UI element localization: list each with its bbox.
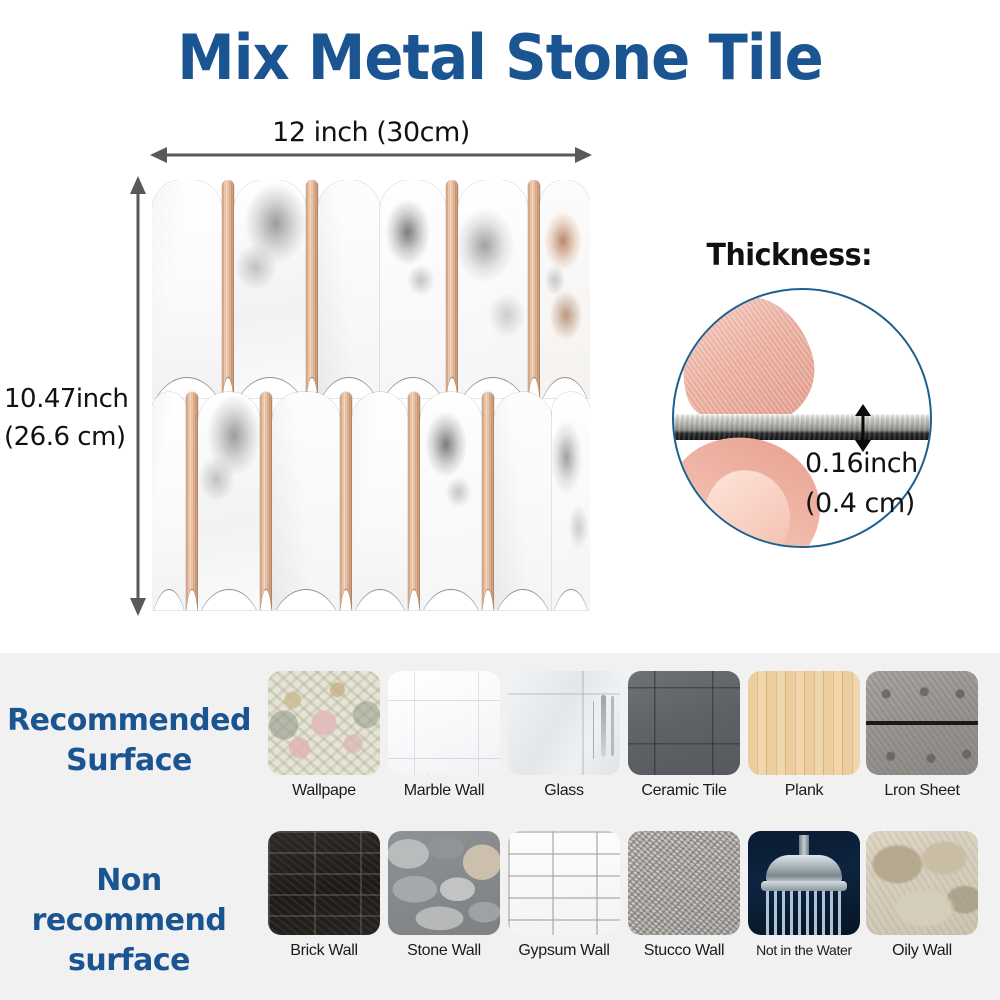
tile-metal-strip: [482, 392, 494, 610]
non-recommended-surface-label: Non recommend surface: [0, 861, 258, 981]
surface-caption: Gypsum Wall: [508, 942, 620, 960]
non-recommended-label-line2: surface: [0, 941, 258, 981]
surface-caption: Stone Wall: [388, 942, 500, 960]
recommended-label-line2: Surface: [0, 741, 258, 781]
surface-item-plank: Plank: [748, 671, 860, 800]
stone-wall-swatch: [388, 831, 500, 935]
tile-picket: [272, 392, 340, 610]
surface-item-stucco-wall: Stucco Wall: [628, 831, 740, 960]
thickness-value-label: 0.16inch (0.4 cm): [805, 444, 955, 524]
height-label-line1: 10.47inch: [4, 380, 134, 418]
surface-caption: Plank: [748, 782, 860, 800]
surface-caption: Glass: [508, 782, 620, 800]
tile-metal-strip: [446, 180, 458, 398]
surface-caption: Not in the Water: [748, 942, 860, 958]
tile-picket: [234, 180, 306, 398]
surface-item-oily-wall: Oily Wall: [866, 831, 978, 960]
marble-swatch: [388, 671, 500, 775]
glass-swatch: [508, 671, 620, 775]
surface-item-not-in-water: Not in the Water: [748, 831, 860, 958]
tile-product-image: [152, 180, 590, 612]
width-dimension-arrow: [150, 145, 592, 165]
tile-picket: [152, 392, 186, 610]
surface-item-wallpaper: Wallpape: [268, 671, 380, 800]
page-title: Mix Metal Stone Tile: [35, 22, 965, 94]
top-section: Mix Metal Stone Tile 12 inch (30cm) 10.4…: [0, 0, 1000, 653]
oily-wall-swatch: [866, 831, 978, 935]
surface-caption: Oily Wall: [866, 942, 978, 960]
tile-picket: [380, 180, 446, 398]
tile-picket: [152, 180, 222, 398]
tile-picket: [458, 180, 528, 398]
tile-metal-strip: [306, 180, 318, 398]
thickness-heading: Thickness:: [707, 238, 954, 273]
surface-item-iron-sheet: Lron Sheet: [866, 671, 978, 800]
iron-sheet-swatch: [866, 671, 978, 775]
non-recommended-surface-grid: Brick Wall Stone Wall Gypsum Wall Stucco…: [268, 831, 978, 976]
tile-picket: [552, 392, 590, 610]
surface-caption: Lron Sheet: [866, 782, 978, 800]
surface-item-marble-wall: Marble Wall: [388, 671, 500, 800]
surface-item-ceramic-tile: Ceramic Tile: [628, 671, 740, 800]
tile-picket: [318, 180, 380, 398]
recommended-label-line1: Recommended: [0, 701, 258, 741]
tile-picket: [540, 180, 590, 398]
tile-row-upper: [152, 180, 590, 398]
tile-picket: [198, 392, 260, 610]
brick-wall-swatch: [268, 831, 380, 935]
tile-picket: [494, 392, 552, 610]
surfaces-section: Recommended Surface Wallpape Marble Wall…: [0, 653, 1000, 1000]
non-recommended-label-line1: Non recommend: [0, 861, 258, 941]
tile-metal-strip: [408, 392, 420, 610]
surface-item-gypsum-wall: Gypsum Wall: [508, 831, 620, 960]
thickness-value-line1: 0.16inch: [805, 444, 955, 484]
surface-caption: Ceramic Tile: [628, 782, 740, 800]
shower-head-swatch: [748, 831, 860, 935]
tile-edge-cross-section: [674, 414, 930, 440]
product-infographic: Mix Metal Stone Tile 12 inch (30cm) 10.4…: [0, 0, 1000, 1000]
surface-item-glass: Glass: [508, 671, 620, 800]
ceramic-swatch: [628, 671, 740, 775]
height-label-line2: (26.6 cm): [4, 418, 134, 456]
stucco-wall-swatch: [628, 831, 740, 935]
surface-caption: Wallpape: [268, 782, 380, 800]
gypsum-wall-swatch: [508, 831, 620, 935]
tile-row-lower: [152, 392, 590, 610]
plank-swatch: [748, 671, 860, 775]
tile-picket: [352, 392, 408, 610]
width-dimension-label: 12 inch (30cm): [152, 117, 590, 148]
height-dimension-label: 10.47inch (26.6 cm): [4, 380, 134, 456]
recommended-surface-label: Recommended Surface: [0, 701, 258, 781]
tile-metal-strip: [260, 392, 272, 610]
recommended-surface-grid: Wallpape Marble Wall Glass Ceramic Tile …: [268, 671, 978, 816]
surface-caption: Marble Wall: [388, 782, 500, 800]
surface-caption: Brick Wall: [268, 942, 380, 960]
surface-caption: Stucco Wall: [628, 942, 740, 960]
wallpaper-swatch: [268, 671, 380, 775]
surface-item-stone-wall: Stone Wall: [388, 831, 500, 960]
tile-metal-strip: [222, 180, 234, 398]
tile-picket: [420, 392, 482, 610]
surface-item-brick-wall: Brick Wall: [268, 831, 380, 960]
thickness-value-line2: (0.4 cm): [805, 484, 955, 524]
tile-metal-strip: [186, 392, 198, 610]
tile-metal-strip: [340, 392, 352, 610]
tile-metal-strip: [528, 180, 540, 398]
